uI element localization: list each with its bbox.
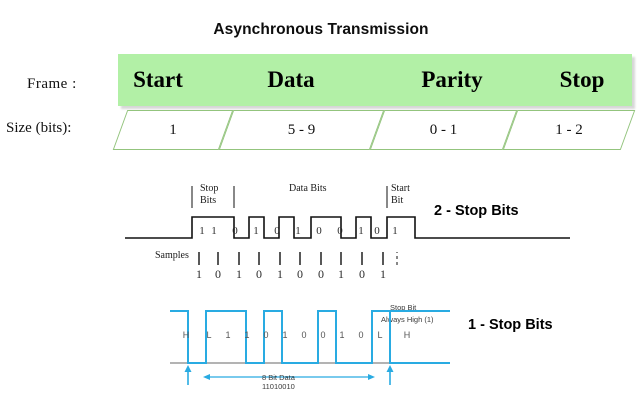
wave-digit-5: 1 [293,225,303,237]
waveform-two-stop-bits [125,186,575,242]
sample-digit-4: 1 [274,267,286,282]
sample-digit-1: 0 [212,267,224,282]
sample-digit-7: 1 [335,267,347,282]
frame-field-data: Data [216,54,366,106]
level-digit-1: L [203,330,215,340]
size-value-stop: 1 - 2 [510,110,628,150]
level-digit-5: 1 [279,330,291,340]
sample-digit-3: 0 [253,267,265,282]
label-8bit-value: 11010010 [262,382,295,391]
frame-field-stop: Stop [532,54,632,106]
sample-digit-5: 0 [294,267,306,282]
sample-digit-2: 1 [233,267,245,282]
frame-field-parity: Parity [382,54,522,106]
size-value-start: 1 [120,110,226,150]
wave-digit-2: 0 [230,225,240,237]
size-value-data: 5 - 9 [226,110,377,150]
wave-digit-3: 1 [251,225,261,237]
frame-field-start: Start [118,54,198,106]
sample-digit-0: 1 [193,267,205,282]
level-digit-3: 1 [241,330,253,340]
wave-digit-1: 1 [209,225,219,237]
level-digit-9: 0 [355,330,367,340]
level-digit-10: L [374,330,386,340]
waveform-one-stop-bit [170,305,460,385]
label-samples: Samples [155,250,189,261]
label-8bit-data: 8 Bit Data [262,373,295,382]
level-digit-7: 0 [317,330,329,340]
sample-digit-6: 0 [315,267,327,282]
wave-digit-9: 0 [372,225,382,237]
level-digit-2: 1 [222,330,234,340]
wave-digit-8: 1 [356,225,366,237]
frame-size-row: 1 5 - 9 0 - 1 1 - 2 [104,110,642,152]
level-digit-4: 0 [260,330,272,340]
sample-digit-9: 1 [377,267,389,282]
diagram-canvas: Asynchronous Transmission Frame : Size (… [0,0,642,408]
size-value-parity: 0 - 1 [377,110,510,150]
level-digit-6: 0 [298,330,310,340]
level-digit-8: 1 [336,330,348,340]
wave-digit-4: 0 [272,225,282,237]
wave-digit-6: 0 [314,225,324,237]
level-digit-0: H [180,330,192,340]
sample-ticks [195,252,415,268]
note-one-stop-bit: 1 - Stop Bits [468,317,553,333]
wave-digit-0: 1 [197,225,207,237]
size-row-label: Size (bits): [6,120,71,137]
frame-row-label: Frame : [27,76,77,93]
page-title: Asynchronous Transmission [0,21,642,39]
wave-digit-7: 0 [335,225,345,237]
level-digit-11: H [401,330,413,340]
sample-digit-8: 0 [356,267,368,282]
wave-digit-10: 1 [390,225,400,237]
